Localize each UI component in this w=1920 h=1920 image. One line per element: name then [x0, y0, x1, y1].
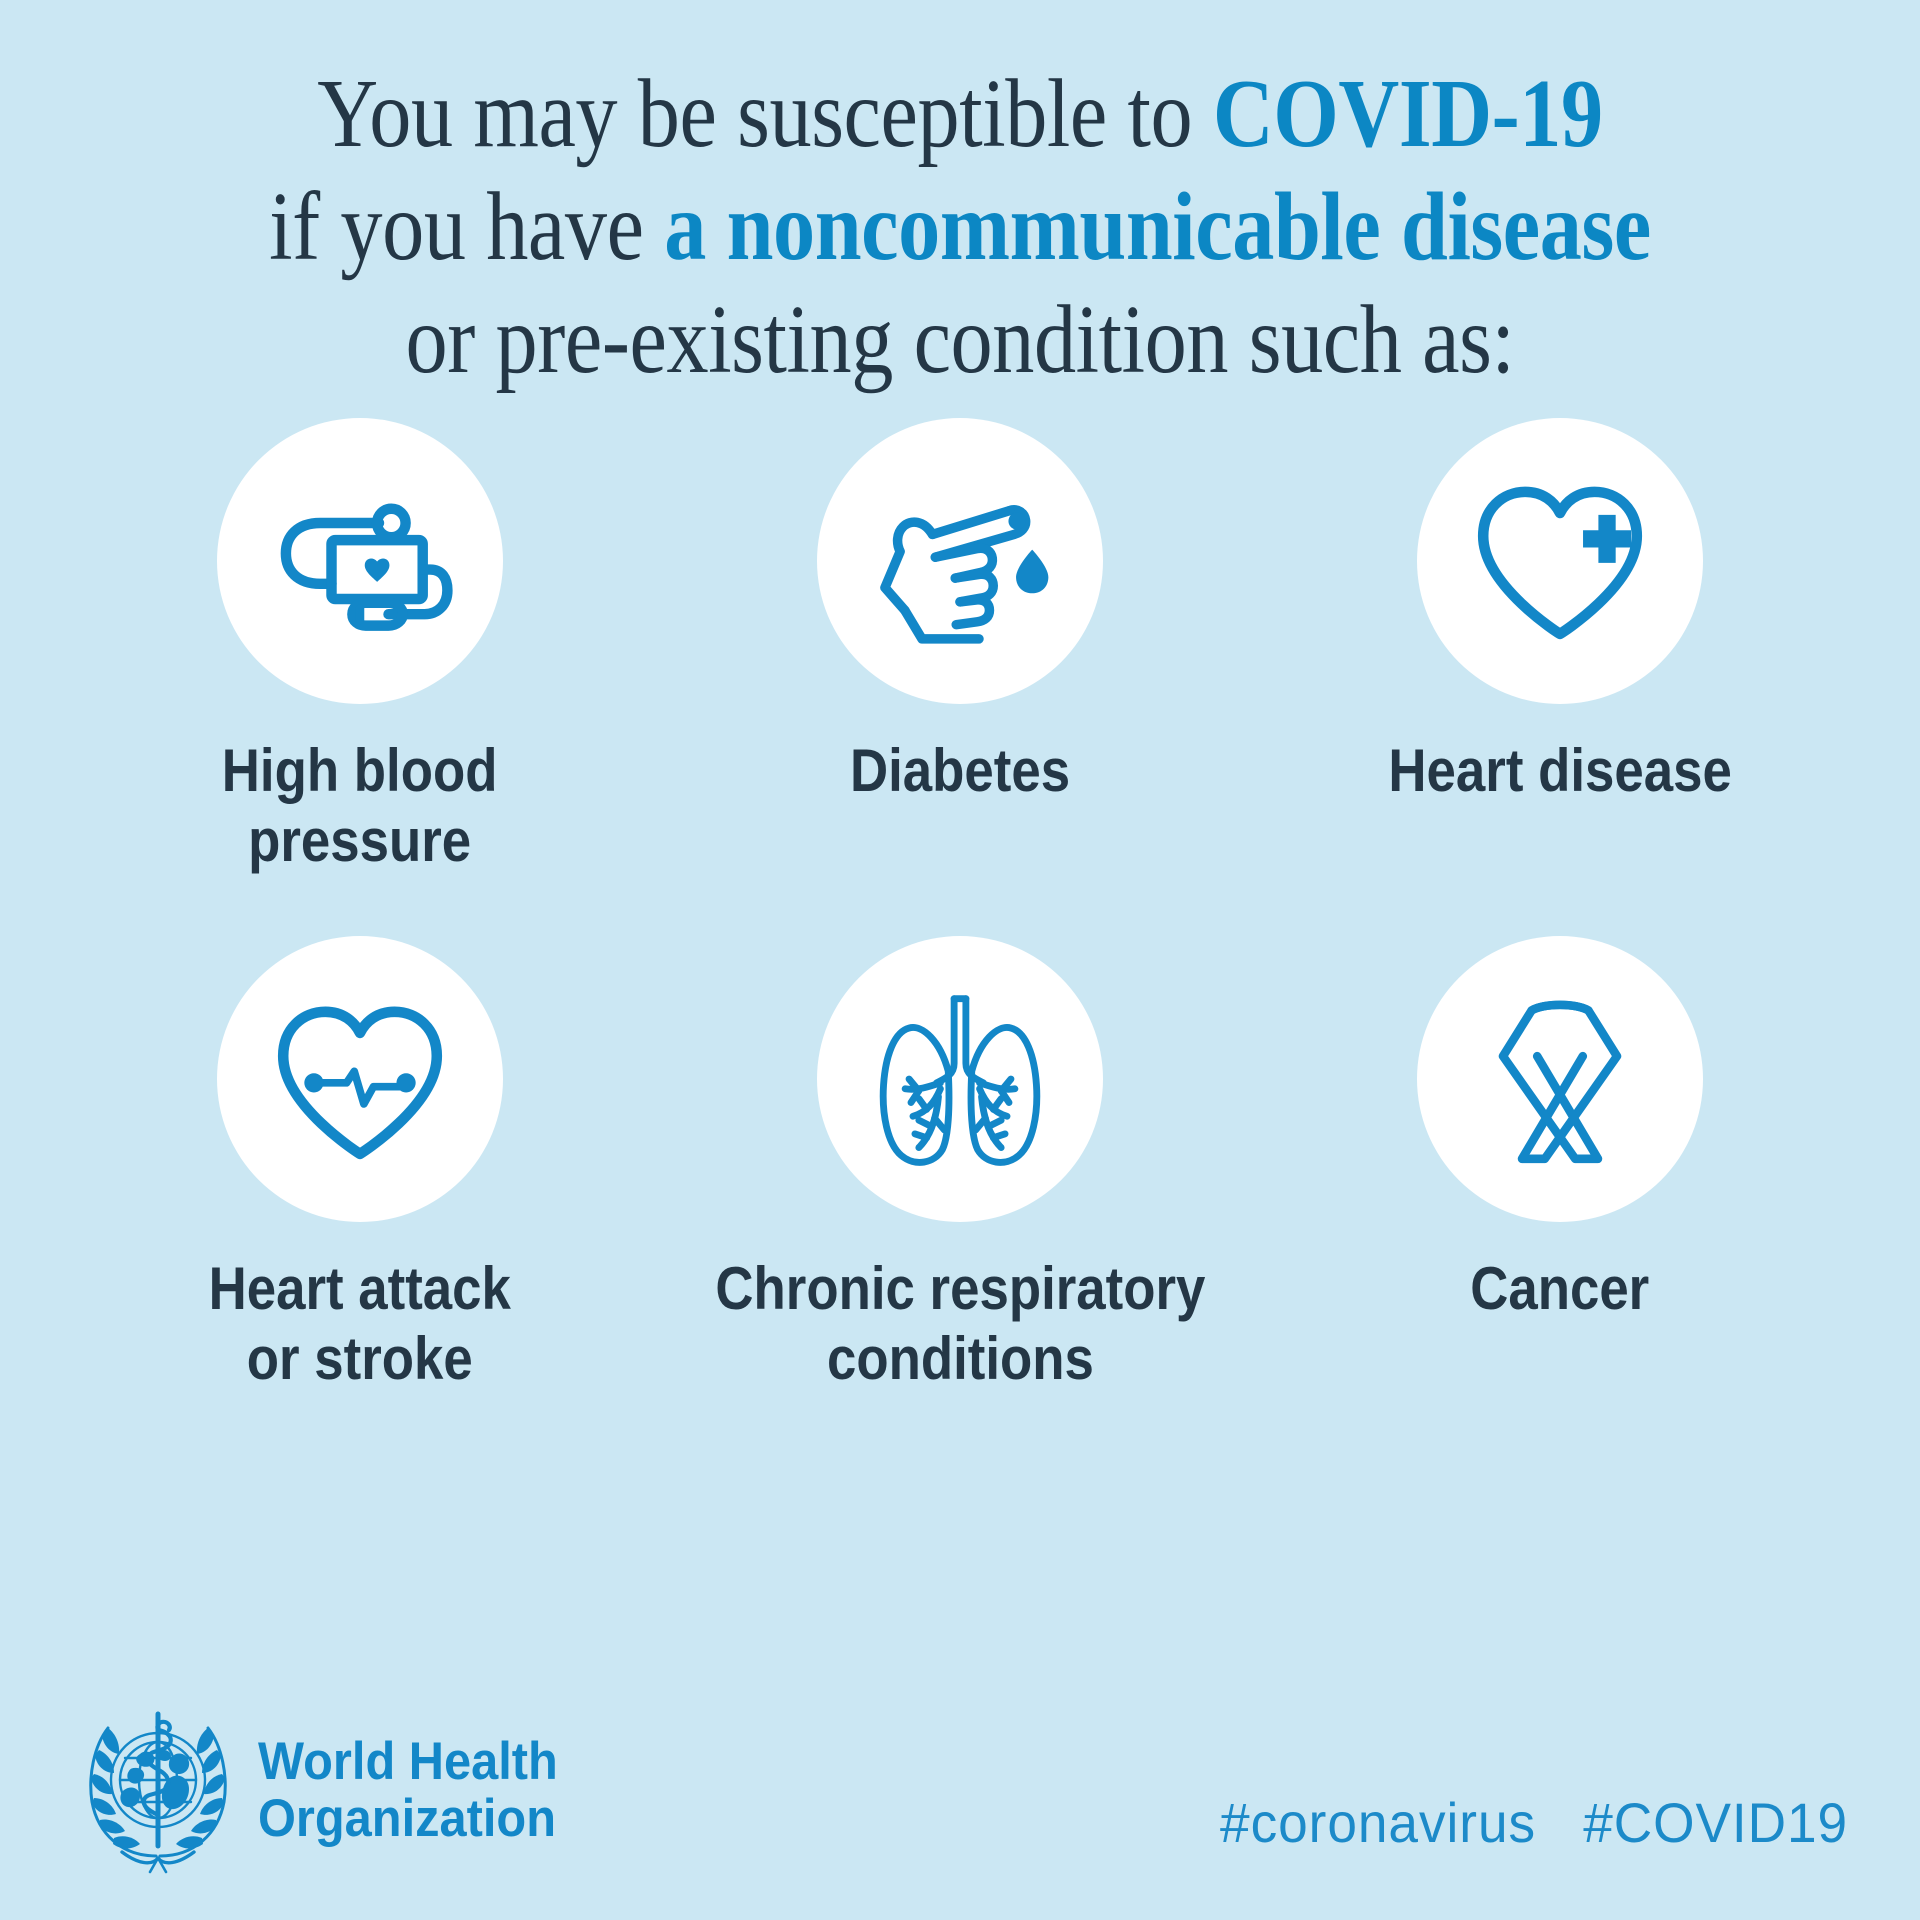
icon-circle [817, 936, 1103, 1222]
icon-circle [217, 418, 503, 704]
who-emblem-icon [78, 1706, 238, 1874]
condition-label: Cancer [1470, 1254, 1649, 1324]
condition-label: High blood pressure [222, 736, 498, 876]
headline-line-1-accent: COVID-19 [1213, 60, 1603, 168]
condition-item-heart-attack-or-stroke: Heart attack or stroke [60, 936, 660, 1394]
page-title: You may be susceptible to COVID-19 if yo… [134, 58, 1785, 397]
who-wordmark: World Health Organization [258, 1733, 558, 1847]
awareness-ribbon-icon [1470, 984, 1650, 1174]
blood-pressure-monitor-icon [265, 466, 455, 656]
headline-line-3: or pre-existing condition such as: [134, 284, 1785, 397]
headline-line-1: You may be susceptible to COVID-19 [134, 58, 1785, 171]
condition-item-high-blood-pressure: High blood pressure [60, 418, 660, 876]
hashtags: #coronavirus #COVID19 [1220, 1790, 1848, 1855]
icon-circle [217, 936, 503, 1222]
who-covid-infographic: You may be susceptible to COVID-19 if yo… [0, 0, 1920, 1920]
condition-item-cancer: Cancer [1260, 936, 1860, 1394]
heart-with-cross-icon [1464, 465, 1656, 657]
who-logo: World Health Organization [78, 1706, 584, 1874]
lungs-icon [862, 981, 1058, 1177]
condition-item-heart-disease: Heart disease [1260, 418, 1860, 876]
condition-label: Diabetes [850, 736, 1070, 806]
condition-label: Chronic respiratory conditions [715, 1254, 1205, 1394]
finger-prick-blood-drop-icon [865, 466, 1055, 656]
conditions-row-1: High blood pressure [60, 418, 1860, 876]
headline-line-2-plain: if you have [269, 173, 664, 281]
icon-circle [817, 418, 1103, 704]
conditions-row-2: Heart attack or stroke [60, 936, 1860, 1394]
condition-item-chronic-respiratory: Chronic respiratory conditions [660, 936, 1260, 1394]
headline-line-2-accent: a noncommunicable disease [664, 173, 1651, 281]
condition-item-diabetes: Diabetes [660, 418, 1260, 876]
condition-label: Heart attack or stroke [209, 1254, 511, 1394]
heart-with-pulse-icon [264, 983, 456, 1175]
icon-circle [1417, 418, 1703, 704]
icon-circle [1417, 936, 1703, 1222]
conditions-grid: High blood pressure [60, 418, 1860, 1394]
condition-label: Heart disease [1388, 736, 1731, 806]
headline-line-2: if you have a noncommunicable disease [134, 171, 1785, 284]
headline-line-1-plain: You may be susceptible to [317, 60, 1213, 168]
